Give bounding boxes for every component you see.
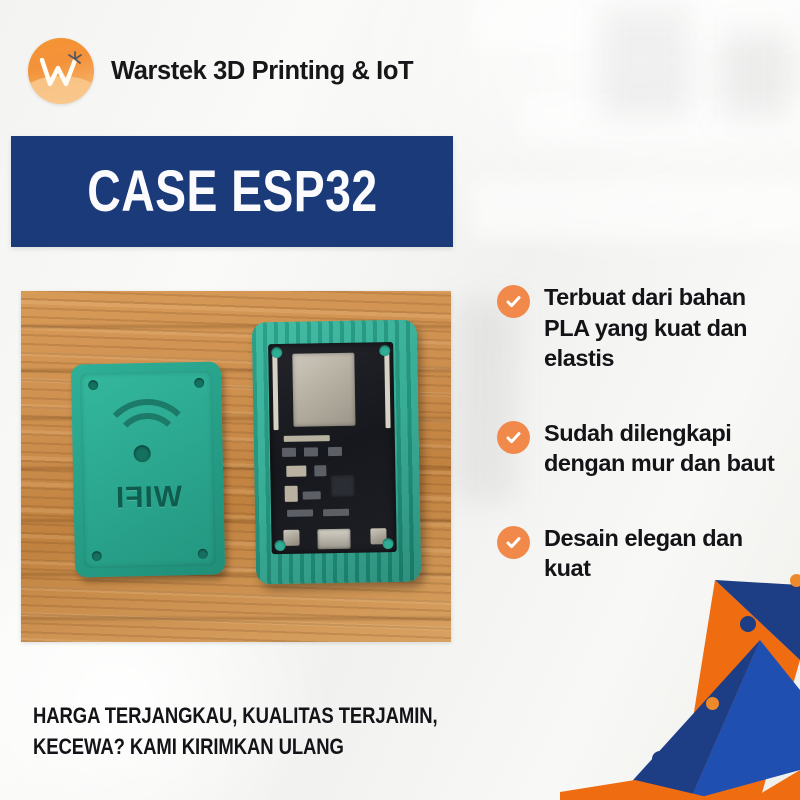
decor-dot bbox=[652, 751, 668, 767]
smd-component bbox=[303, 491, 321, 499]
page-title: CASE ESP32 bbox=[87, 163, 377, 221]
warstek-w-logo-icon bbox=[28, 38, 94, 104]
tagline-line-2: KECEWA? KAMI KIRIMKAN ULANG bbox=[33, 731, 394, 762]
board-mount-hole bbox=[271, 347, 282, 358]
en-button bbox=[283, 530, 299, 546]
check-circle-icon bbox=[497, 526, 530, 559]
smd-component bbox=[323, 509, 349, 516]
smd-component bbox=[328, 447, 342, 456]
background-shade bbox=[600, 8, 690, 118]
case-body bbox=[252, 320, 422, 585]
background-streak bbox=[470, 0, 800, 50]
tagline-line-1: HARGA TERJANGKAU, KUALITAS TERJAMIN, bbox=[33, 700, 394, 731]
case-lid: WIFI bbox=[71, 361, 225, 577]
brand-title: Warstek 3D Printing & IoT bbox=[111, 57, 413, 86]
board-mount-hole bbox=[383, 538, 394, 549]
wood-grain-line bbox=[21, 617, 451, 620]
promo-poster: Warstek 3D Printing & IoT CASE ESP32 WIF… bbox=[0, 0, 800, 800]
background-streak bbox=[470, 180, 800, 240]
esp32-rf-shield bbox=[292, 353, 355, 427]
feature-text: Sudah dilengkapi dengan mur dan baut bbox=[544, 418, 787, 479]
tagline: HARGA TERJANGKAU, KUALITAS TERJAMIN, KEC… bbox=[33, 700, 463, 762]
decor-dot bbox=[740, 616, 756, 632]
smd-component bbox=[314, 465, 326, 476]
header: Warstek 3D Printing & IoT bbox=[28, 38, 413, 104]
check-circle-icon bbox=[497, 285, 530, 318]
usb-uart-chip bbox=[330, 475, 354, 497]
check-circle-icon bbox=[497, 421, 530, 454]
pin-header-right bbox=[384, 350, 390, 428]
smd-component bbox=[282, 448, 296, 457]
board-mount-hole bbox=[275, 540, 286, 551]
decor-triangle-navy-2 bbox=[615, 640, 760, 800]
decor-triangle-orange-2 bbox=[560, 780, 720, 800]
pin-header-left bbox=[272, 352, 278, 430]
feature-item: Sudah dilengkapi dengan mur dan baut bbox=[497, 418, 787, 479]
background-streak bbox=[520, 95, 800, 143]
feature-list: Terbuat dari bahan PLA yang kuat dan ela… bbox=[497, 282, 787, 628]
smd-component bbox=[284, 435, 330, 442]
feature-text: Desain elegan dan kuat bbox=[544, 523, 787, 584]
feature-text: Terbuat dari bahan PLA yang kuat dan ela… bbox=[544, 282, 787, 374]
decor-dot bbox=[790, 574, 800, 587]
decor-dot bbox=[706, 697, 719, 710]
feature-item: Desain elegan dan kuat bbox=[497, 523, 787, 584]
smd-component bbox=[286, 466, 306, 477]
product-photo: WIFI bbox=[21, 291, 451, 642]
feature-item: Terbuat dari bahan PLA yang kuat dan ela… bbox=[497, 282, 787, 374]
decor-triangle-blue bbox=[690, 640, 800, 800]
lid-wifi-label: WIFI bbox=[115, 480, 183, 515]
smd-component bbox=[304, 447, 318, 456]
smd-component bbox=[285, 486, 298, 502]
title-banner: CASE ESP32 bbox=[11, 136, 453, 247]
decor-triangle-orange-3 bbox=[750, 770, 800, 800]
background-shade bbox=[720, 30, 790, 120]
micro-usb-port bbox=[317, 529, 350, 550]
smd-component bbox=[287, 509, 313, 516]
esp32-board bbox=[268, 342, 397, 554]
